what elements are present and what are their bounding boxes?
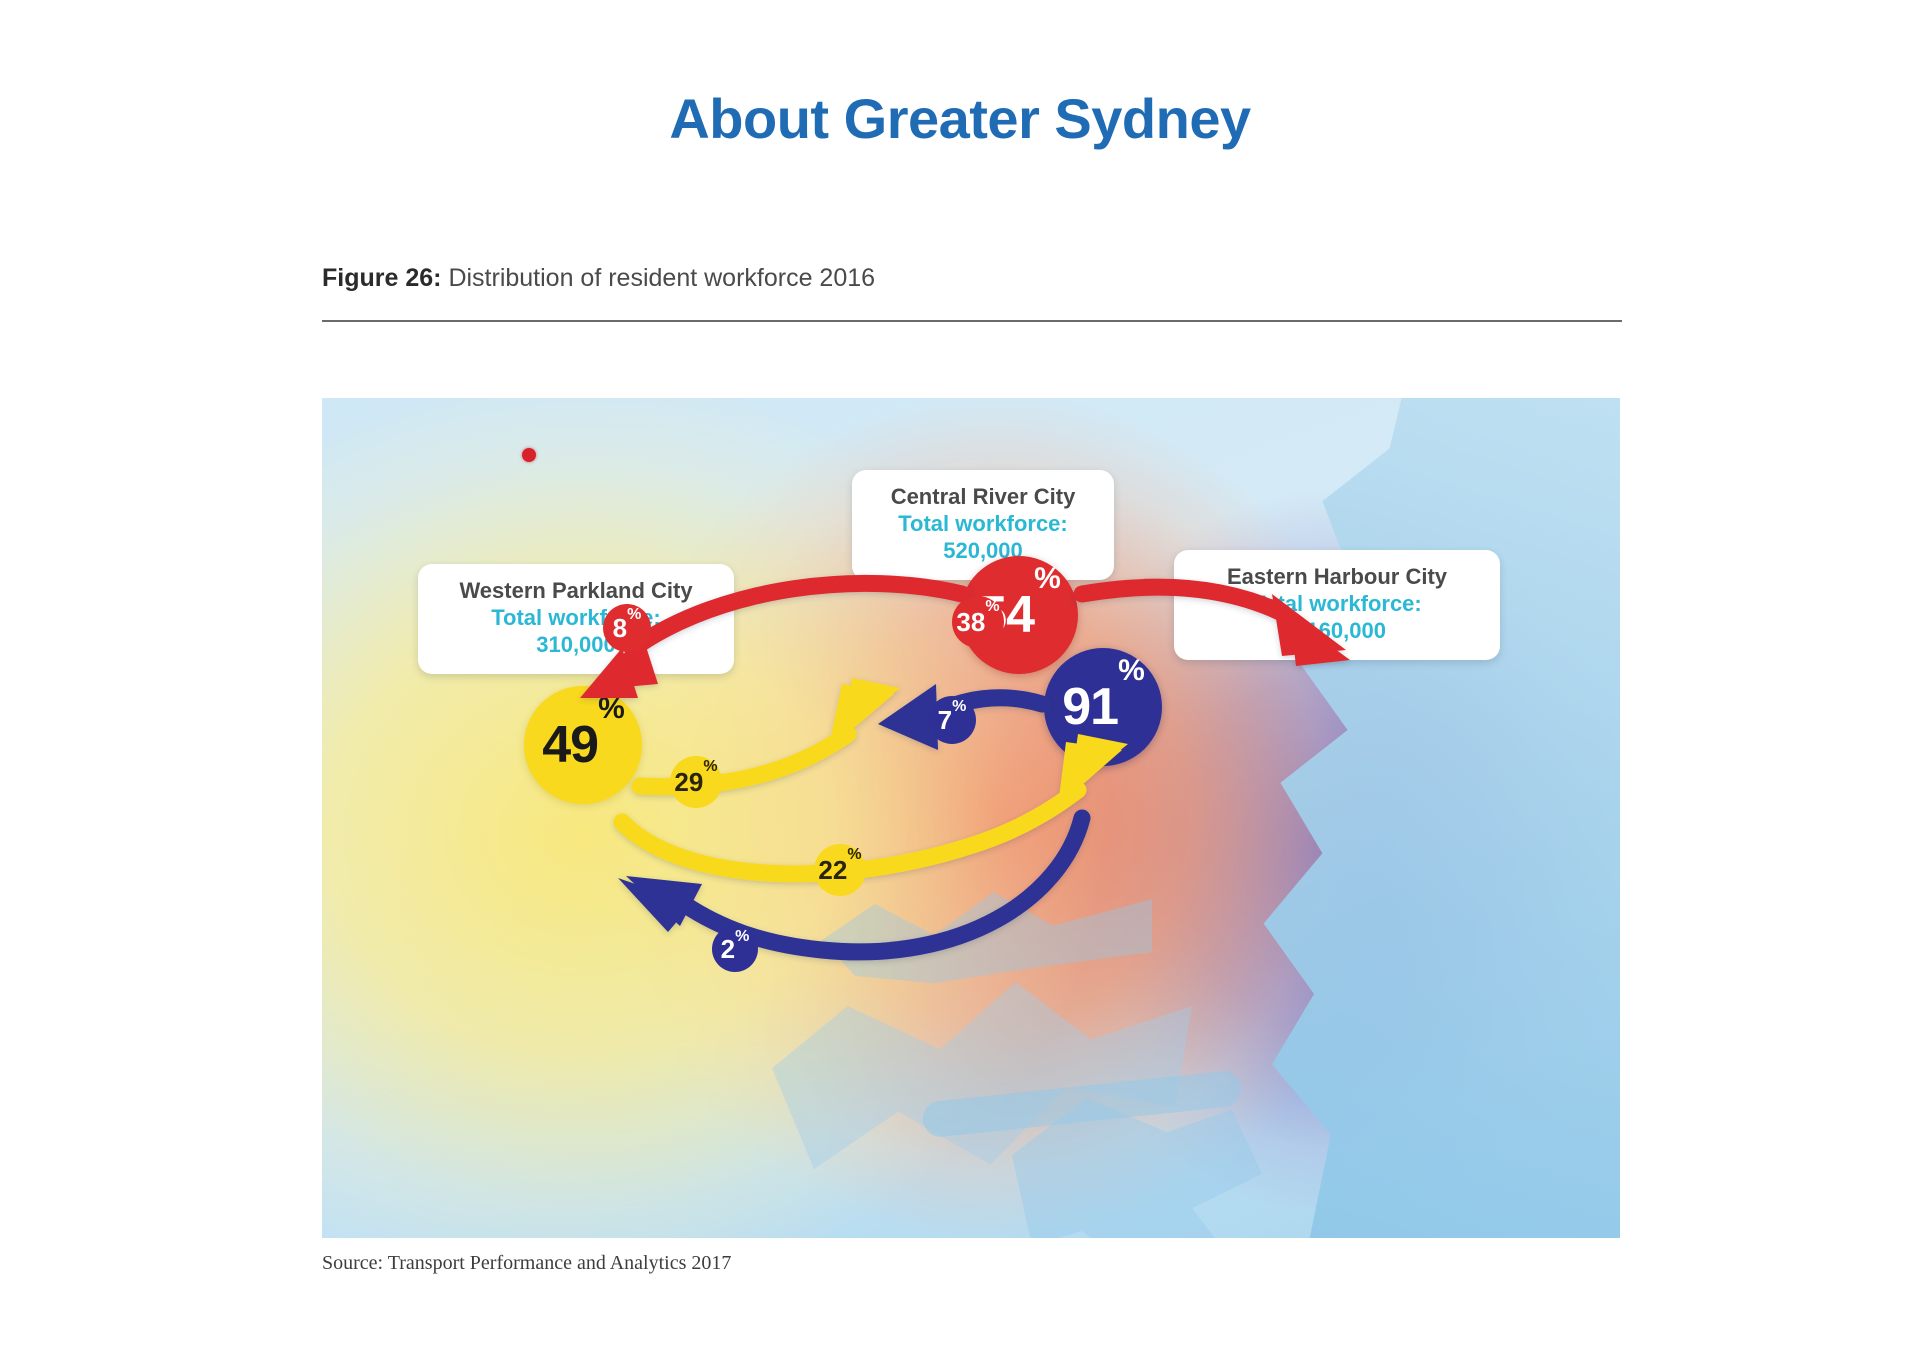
flow-badge-value: 2 <box>721 936 735 962</box>
caption-divider <box>322 320 1622 322</box>
flow-arrows-layer <box>322 398 1620 1238</box>
flow-badge-percent-sign: % <box>627 607 641 623</box>
flow-badge-value: 8 <box>613 615 627 641</box>
page-title: About Greater Sydney <box>0 86 1920 151</box>
flow-badge-value: 7 <box>938 707 952 733</box>
figure-source: Source: Transport Performance and Analyt… <box>322 1252 731 1275</box>
flow-badge-percent-sign: % <box>735 929 749 945</box>
figure-caption-text: Distribution of resident workforce 2016 <box>448 264 875 292</box>
flow-badge-central-to-eastern: 38 % <box>952 596 1004 648</box>
flow-badge-value: 22 <box>818 857 847 883</box>
figure-caption: Figure 26: Distribution of resident work… <box>322 264 875 293</box>
flow-arrow-central-to-eastern <box>1082 587 1350 666</box>
flow-badge-percent-sign: % <box>952 699 966 715</box>
flow-badge-central-to-western: 8 % <box>603 604 651 652</box>
flow-badge-percent-sign: % <box>985 599 999 615</box>
figure-number: Figure 26: <box>322 264 441 292</box>
flow-badge-eastern-to-central: 7 % <box>928 696 976 744</box>
figure-map-panel: Western Parkland City Total workforce: 3… <box>322 398 1620 1238</box>
flow-badge-value: 38 <box>956 609 985 635</box>
flow-badge-western-to-central: 29 % <box>670 756 722 808</box>
flow-badge-western-to-eastern: 22 % <box>814 844 866 896</box>
flow-badge-eastern-to-western: 2 % <box>712 926 758 972</box>
flow-badge-percent-sign: % <box>847 847 861 863</box>
flow-badge-percent-sign: % <box>703 759 717 775</box>
flow-badge-value: 29 <box>674 769 703 795</box>
